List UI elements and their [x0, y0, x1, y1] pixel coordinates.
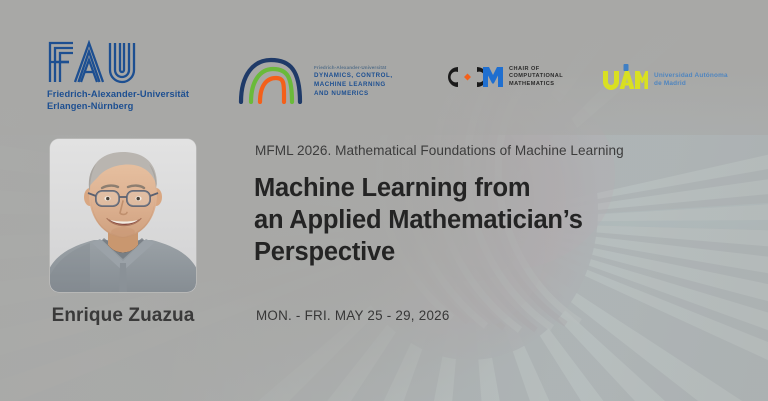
fau-logo: Friedrich-Alexander-Universität Erlangen… [47, 40, 189, 112]
uam-line-2: de Madrid [654, 80, 728, 88]
fau-subtitle-line2: Erlangen-Nürnberg [47, 101, 189, 113]
speaker-name: Enrique Zuazua [0, 305, 246, 327]
ccm-line-2: COMPUTATIONAL [509, 73, 563, 80]
headline-line-1: Machine Learning from [254, 172, 674, 204]
headline-line-2: an Applied Mathematician’s [254, 204, 674, 236]
talk-headline: Machine Learning from an Applied Mathema… [254, 172, 674, 268]
fau-subtitle-line1: Friedrich-Alexander-Universität [47, 89, 189, 101]
fau-wordmark-icon [47, 40, 152, 84]
uam-wordmark-icon [602, 64, 648, 90]
dcmln-line-3: AND NUMERICS [314, 90, 393, 98]
dcmln-arc-icon [238, 54, 310, 104]
uam-logo: Universidad Autónoma de Madrid [602, 64, 728, 90]
ccm-line-1: CHAIR OF [509, 66, 563, 73]
ccm-logo: CHAIR OF COMPUTATIONAL MATHEMATICS [447, 66, 563, 88]
event-dateline: MON. - FRI. MAY 25 - 29, 2026 [256, 308, 450, 323]
portrait-image [50, 139, 196, 292]
dcmln-line-1: DYNAMICS, CONTROL, [314, 72, 393, 80]
ccm-wordmark-icon [447, 66, 503, 88]
uam-line-1: Universidad Autónoma [654, 72, 728, 80]
speaker-portrait [50, 139, 196, 292]
dcmln-logo: Friedrich-Alexander-Universität DYNAMICS… [238, 54, 393, 104]
dcmln-line-2: MACHINE LEARNING [314, 81, 393, 89]
dcmln-top-text: Friedrich-Alexander-Universität [314, 65, 393, 70]
headline-line-3: Perspective [254, 236, 674, 268]
event-eyebrow: MFML 2026. Mathematical Foundations of M… [255, 143, 624, 158]
ccm-line-3: MATHEMATICS [509, 81, 563, 88]
